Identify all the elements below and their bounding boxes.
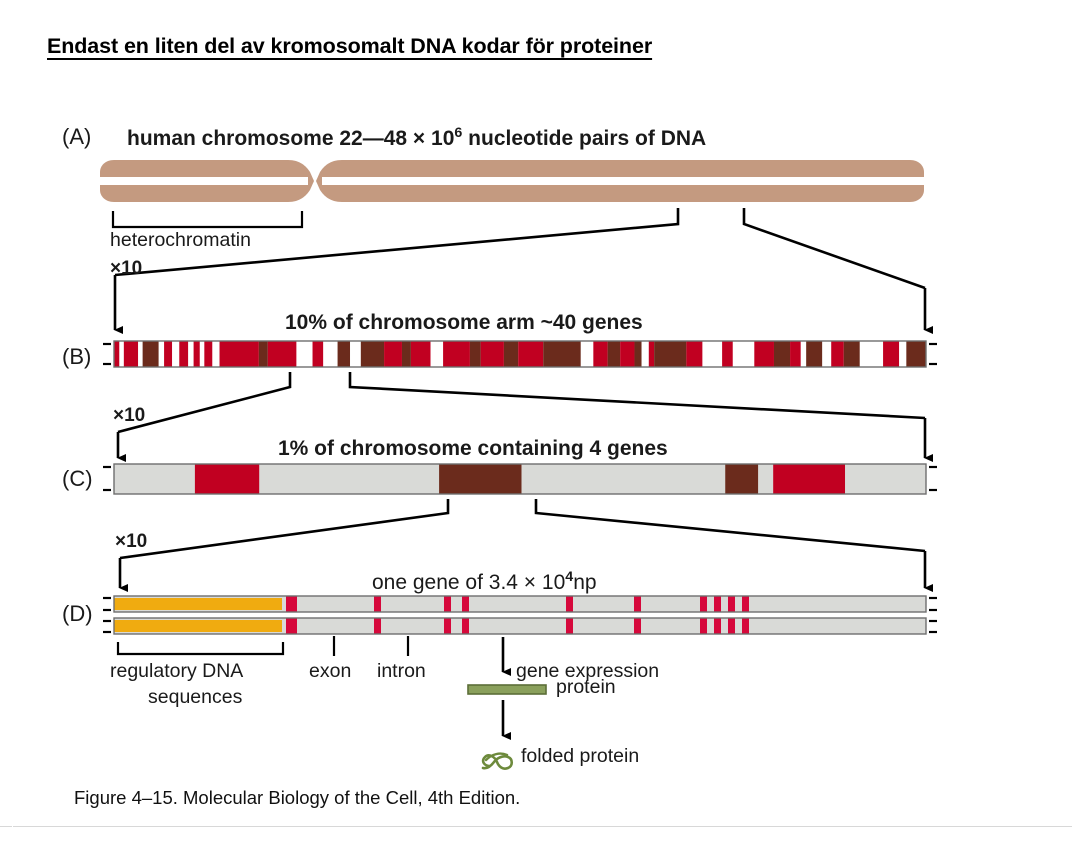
panel-b-band-5 xyxy=(159,341,164,367)
intron-label: intron xyxy=(377,660,426,683)
panel-b-headline: 10% of chromosome arm ~40 genes xyxy=(285,311,643,335)
panel-b-band-8 xyxy=(179,341,188,367)
panel-d-bars xyxy=(114,596,926,634)
panel-b-band-13 xyxy=(212,341,219,367)
panel-b-band-37 xyxy=(634,341,641,367)
panel-b-band-27 xyxy=(443,341,470,367)
panel-letter-a: (A) xyxy=(62,124,91,150)
panel-c-band-4 xyxy=(522,464,726,494)
exon-mark-6-row0 xyxy=(634,596,641,612)
exon-mark-7-row0 xyxy=(700,596,707,612)
panel-b-band-47 xyxy=(790,341,801,367)
panel-a-headline-pre: human chromosome 22—48 × 10 xyxy=(127,127,454,150)
exon-mark-1-row1 xyxy=(290,618,297,634)
exon-mark-3-row0 xyxy=(444,596,451,612)
panel-b-band-15 xyxy=(259,341,268,367)
panel-b-band-16 xyxy=(268,341,297,367)
panel-b-band-42 xyxy=(702,341,722,367)
panel-b-band-22 xyxy=(361,341,384,367)
protein-label: protein xyxy=(556,676,616,699)
panel-d-headline-exponent: 4 xyxy=(565,569,573,585)
panel-letter-d: (D) xyxy=(62,601,93,627)
panel-b-band-51 xyxy=(831,341,844,367)
heterochromatin-bracket xyxy=(113,211,302,227)
slide-left-edge xyxy=(12,0,13,844)
panel-b-band-10 xyxy=(194,341,200,367)
panel-a-headline: human chromosome 22—48 × 106 nucleotide … xyxy=(127,125,706,151)
panel-b-band-0 xyxy=(114,341,119,367)
panel-b-band-9 xyxy=(188,341,193,367)
exon-label: exon xyxy=(309,660,351,683)
panel-c-band-2 xyxy=(259,464,439,494)
exon-mark-5-row1 xyxy=(566,618,573,634)
panel-b-band-19 xyxy=(323,341,337,367)
panel-b-band-3 xyxy=(138,341,142,367)
panel-b-band-25 xyxy=(411,341,431,367)
panel-b-band-56 xyxy=(906,341,926,367)
magnification-a-to-b: ×10 xyxy=(110,258,142,280)
magnification-b-to-c: ×10 xyxy=(113,405,145,427)
panel-b-band-38 xyxy=(642,341,649,367)
panel-b-band-17 xyxy=(296,341,312,367)
panel-b-band-54 xyxy=(883,341,899,367)
panel-b-band-43 xyxy=(722,341,733,367)
panel-c-headline: 1% of chromosome containing 4 genes xyxy=(278,437,668,461)
exon-mark-10-row0 xyxy=(742,596,749,612)
exon-mark-9-row0 xyxy=(728,596,735,612)
figure-caption: Figure 4–15. Molecular Biology of the Ce… xyxy=(74,787,520,809)
exon-intron-leaders xyxy=(334,636,408,656)
panel-letter-b: (B) xyxy=(62,344,91,370)
panel-b-band-29 xyxy=(481,341,504,367)
panel-b-band-49 xyxy=(806,341,822,367)
chromatid-split-left xyxy=(100,177,308,185)
panel-b-band-12 xyxy=(204,341,212,367)
panel-b-band-52 xyxy=(844,341,860,367)
exon-mark-8-row0 xyxy=(714,596,721,612)
exon-mark-8-row1 xyxy=(714,618,721,634)
exon-mark-9-row1 xyxy=(728,618,735,634)
exon-mark-10-row1 xyxy=(742,618,749,634)
exon-mark-6-row1 xyxy=(634,618,641,634)
panel-b-band-34 xyxy=(593,341,607,367)
panel-letter-c: (C) xyxy=(62,466,93,492)
folded-protein-label: folded protein xyxy=(521,745,639,768)
panel-b-band-48 xyxy=(801,341,806,367)
regulatory-dna-label-line1: regulatory DNA xyxy=(110,660,243,683)
panel-b-band-44 xyxy=(733,341,754,367)
panel-d-headline-pre: one gene of 3.4 × 10 xyxy=(372,571,565,594)
panel-b-band-20 xyxy=(338,341,351,367)
panel-b-band-30 xyxy=(504,341,518,367)
heterochromatin-label: heterochromatin xyxy=(110,229,251,252)
panel-d-headline: one gene of 3.4 × 104np xyxy=(372,569,597,595)
exon-mark-5-row0 xyxy=(566,596,573,612)
panel-b-band-2 xyxy=(124,341,138,367)
protein-bar xyxy=(468,685,546,694)
panel-b-band-28 xyxy=(470,341,481,367)
regulatory-dna-label-line2: sequences xyxy=(148,686,242,709)
panel-c-band-1 xyxy=(195,464,259,494)
panel-b-band-36 xyxy=(620,341,634,367)
panel-b-bar xyxy=(114,341,926,367)
panel-b-band-35 xyxy=(608,341,621,367)
panel-b-band-24 xyxy=(402,341,411,367)
exon-mark-2-row1 xyxy=(374,618,381,634)
exon-mark-1-row0 xyxy=(290,596,297,612)
panel-b-band-53 xyxy=(860,341,883,367)
exon-mark-4-row0 xyxy=(462,596,469,612)
exon-mark-7-row1 xyxy=(700,618,707,634)
panel-b-band-21 xyxy=(350,341,361,367)
panel-b-band-26 xyxy=(431,341,444,367)
regulatory-dna-block-row1 xyxy=(114,620,282,632)
regulatory-dna-block-row0 xyxy=(114,598,282,610)
panel-b-band-39 xyxy=(649,341,654,367)
slide-bottom-divider xyxy=(0,826,1072,827)
panel-c-band-7 xyxy=(773,464,845,494)
folded-protein-icon xyxy=(483,754,512,769)
panel-b-band-18 xyxy=(313,341,324,367)
panel-b-band-4 xyxy=(143,341,159,367)
panel-b-band-41 xyxy=(686,341,702,367)
panel-b-band-23 xyxy=(384,341,402,367)
panel-c-band-3 xyxy=(439,464,521,494)
panel-b-band-46 xyxy=(774,341,790,367)
regulatory-dna-bracket xyxy=(118,642,283,654)
slide-canvas: Endast en liten del av kromosomalt DNA k… xyxy=(0,0,1072,844)
exon-mark-4-row1 xyxy=(462,618,469,634)
panel-b-band-11 xyxy=(200,341,204,367)
exon-mark-2-row0 xyxy=(374,596,381,612)
chromatid-split-right xyxy=(322,177,924,185)
magnification-c-to-d: ×10 xyxy=(115,531,147,553)
panel-b-band-14 xyxy=(220,341,259,367)
panel-c-band-8 xyxy=(845,464,926,494)
panel-b-band-45 xyxy=(754,341,774,367)
exon-mark-3-row1 xyxy=(444,618,451,634)
panel-b-band-1 xyxy=(119,341,123,367)
panel-b-band-7 xyxy=(172,341,179,367)
panel-b-band-32 xyxy=(543,341,581,367)
panel-d-headline-post: np xyxy=(573,571,596,594)
panel-b-band-33 xyxy=(581,341,594,367)
panel-b-band-55 xyxy=(899,341,906,367)
panel-b-band-6 xyxy=(164,341,172,367)
panel-b-band-50 xyxy=(822,341,831,367)
panel-b-band-40 xyxy=(654,341,686,367)
panel-c-band-5 xyxy=(725,464,758,494)
panel-c-band-6 xyxy=(758,464,773,494)
panel-a-headline-post: nucleotide pairs of DNA xyxy=(462,127,706,150)
panel-b-band-31 xyxy=(518,341,543,367)
chromosome-graphic xyxy=(100,160,924,202)
panel-c-bar xyxy=(114,464,926,494)
panel-c-band-0 xyxy=(114,464,195,494)
